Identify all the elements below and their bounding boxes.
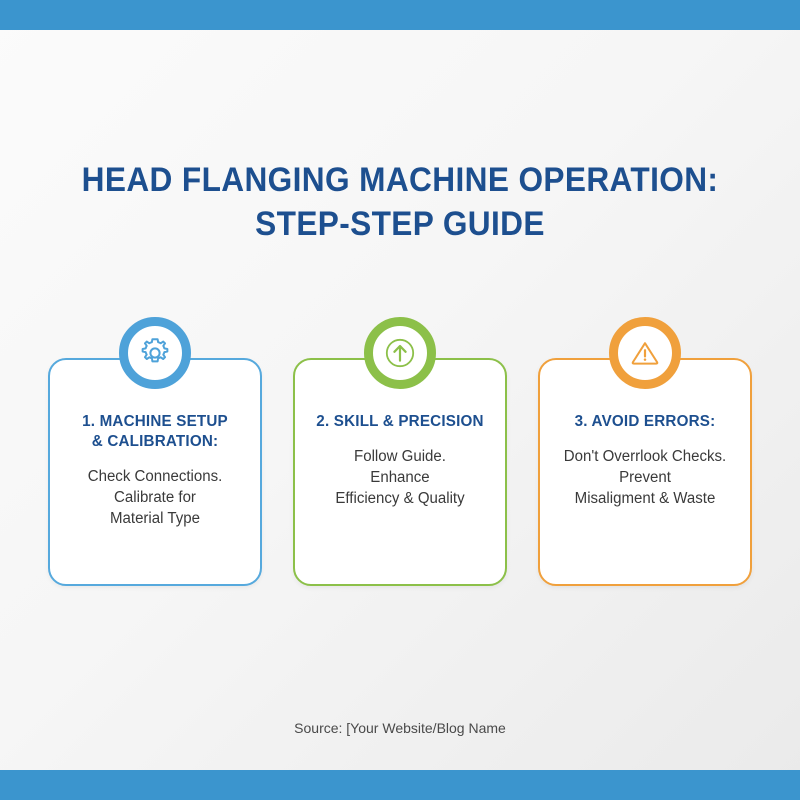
step-card-1-heading-line-1: 1. MACHINE SETUP [65,412,246,432]
step-cards-row: 1. MACHINE SETUP & CALIBRATION: Check Co… [48,358,752,586]
page-title: HEAD FLANGING MACHINE OPERATION: STEP-ST… [0,158,800,246]
title-line-2: STEP-STEP GUIDE [28,202,772,246]
step-card-1: 1. MACHINE SETUP & CALIBRATION: Check Co… [48,358,262,586]
step-card-1-text-line-2: Calibrate for [63,487,247,508]
step-card-2-heading-line-1: 2. SKILL & PRECISION [310,412,491,432]
source-caption: Source: [Your Website/Blog Name [0,720,800,736]
step-card-2-text-line-1: Follow Guide. [308,446,492,467]
step-card-2-text-line-3: Efficiency & Quality [308,488,492,509]
title-line-1: HEAD FLANGING MACHINE OPERATION: [28,158,772,202]
up-arrow-icon [383,336,417,370]
step-card-1-heading-line-2: & CALIBRATION: [65,432,246,452]
gear-icon [138,336,172,370]
step-card-2-text-line-2: Enhance [308,467,492,488]
step-card-3-heading-line-1: 3. AVOID ERRORS: [555,412,736,432]
warning-triangle-icon [628,336,662,370]
step-card-3-text-line-1: Don't Overrlook Checks. [553,446,737,467]
step-card-3-badge [609,317,681,389]
step-card-1-text-line-3: Material Type [63,508,247,529]
step-card-1-text: Check Connections. Calibrate for Materia… [63,466,247,529]
step-card-2-badge [364,317,436,389]
step-card-3-text-line-3: Misaligment & Waste [553,488,737,509]
step-card-3-text: Don't Overrlook Checks. Prevent Misaligm… [553,446,737,509]
step-card-2-heading: 2. SKILL & PRECISION [310,412,491,432]
step-card-1-badge [119,317,191,389]
step-card-2: 2. SKILL & PRECISION Follow Guide. Enhan… [293,358,507,586]
bottom-color-band [0,770,800,800]
step-card-1-heading: 1. MACHINE SETUP & CALIBRATION: [65,412,246,452]
infographic-poster: HEAD FLANGING MACHINE OPERATION: STEP-ST… [0,0,800,800]
step-card-3: 3. AVOID ERRORS: Don't Overrlook Checks.… [538,358,752,586]
top-color-band [0,0,800,30]
step-card-1-text-line-1: Check Connections. [63,466,247,487]
step-card-3-text-line-2: Prevent [553,467,737,488]
step-card-2-text: Follow Guide. Enhance Efficiency & Quali… [308,446,492,509]
step-card-3-heading: 3. AVOID ERRORS: [555,412,736,432]
